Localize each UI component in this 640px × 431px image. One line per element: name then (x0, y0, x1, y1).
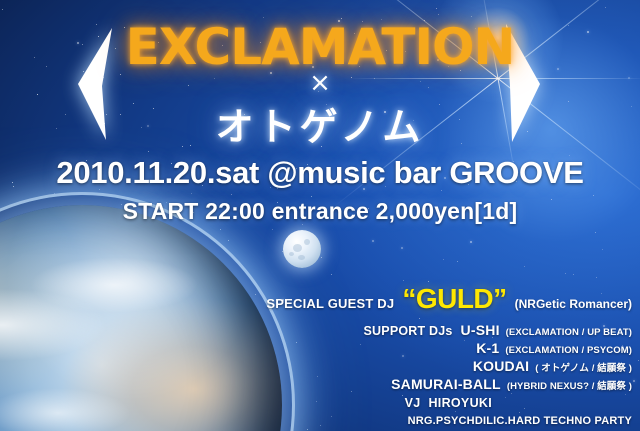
star (524, 408, 525, 409)
party-tagline: NRG.PSYCHDILIC.HARD TECHNO PARTY (408, 415, 632, 427)
star (191, 193, 192, 194)
support-dj-crew: (HYBRID NEXUS? / 結願祭 ) (507, 378, 632, 392)
star (568, 101, 569, 102)
support-dj-crew: (EXCLAMATION / UP BEAT) (506, 327, 632, 338)
event-start-entrance: START 22:00 entrance 2,000yen[1d] (123, 198, 518, 225)
star (605, 7, 606, 8)
star (104, 123, 105, 124)
support-dj-crew: ( オトゲノム / 結願祭 ) (535, 360, 632, 374)
star (470, 241, 472, 243)
vj-label: VJ (405, 396, 421, 410)
star (214, 78, 215, 79)
star (457, 261, 458, 262)
star (311, 196, 312, 197)
star (374, 78, 375, 79)
moon-crater (298, 255, 305, 260)
support-dj-name: SAMURAI-BALL (391, 376, 501, 392)
star (56, 128, 57, 129)
star (96, 24, 97, 25)
star (402, 395, 403, 396)
star (255, 294, 256, 295)
special-guest-row: SPECIAL GUEST DJ “GULD” (NRGetic Romance… (266, 283, 632, 315)
star (565, 273, 566, 274)
moon-crater (293, 244, 302, 252)
support-dj-name: KOUDAI (473, 358, 529, 374)
star (77, 42, 79, 44)
moon-crater (304, 239, 310, 245)
star (573, 274, 574, 275)
vj-name: HIROYUKI (428, 396, 492, 410)
star (124, 27, 125, 28)
star (455, 411, 456, 412)
star (420, 81, 421, 82)
support-dj-row: KOUDAI ( オトゲノム / 結願祭 ) (473, 358, 632, 374)
star (13, 186, 14, 187)
star (121, 204, 122, 205)
star (519, 412, 520, 413)
support-djs-label: SUPPORT DJs (364, 324, 453, 338)
event-date-venue: 2010.11.20.sat @music bar GROOVE (56, 155, 583, 191)
star (331, 274, 332, 275)
support-dj-name: K-1 (476, 340, 499, 356)
star (182, 146, 183, 147)
star (115, 48, 116, 49)
star (34, 57, 35, 58)
star (307, 429, 308, 430)
star (82, 44, 83, 45)
star (231, 194, 232, 195)
star (443, 259, 444, 260)
star (505, 397, 506, 398)
star (438, 14, 439, 15)
star (401, 247, 403, 249)
star (98, 36, 99, 37)
star (587, 31, 589, 33)
special-guest-label: SPECIAL GUEST DJ (266, 296, 394, 311)
star (631, 106, 632, 107)
star (316, 401, 317, 402)
special-guest-crew: (NRGetic Romancer) (515, 297, 632, 311)
star (595, 232, 596, 233)
star (272, 229, 273, 230)
support-dj-row: SUPPORT DJs U-SHI (EXCLAMATION / UP BEAT… (364, 322, 632, 338)
star (65, 114, 66, 115)
star (638, 360, 639, 361)
star (106, 114, 107, 115)
star (360, 344, 361, 345)
star (83, 71, 84, 72)
star (94, 98, 95, 99)
star (317, 376, 318, 377)
star (220, 229, 221, 230)
star (351, 391, 352, 392)
star (551, 199, 552, 200)
support-dj-crew: (EXCLAMATION / PSYCOM) (505, 345, 632, 356)
support-djs-block: SUPPORT DJs U-SHI (EXCLAMATION / UP BEAT… (364, 322, 632, 392)
flare-ray-horizontal (348, 78, 640, 79)
star (37, 94, 38, 95)
star (46, 66, 47, 67)
star (351, 77, 352, 78)
star (428, 87, 429, 88)
star (372, 240, 374, 242)
star (459, 119, 460, 120)
moon-crater (289, 252, 294, 256)
star (568, 25, 569, 26)
star (511, 393, 512, 394)
event-flyer: EXCLAMATION × オトゲノム 2010.11.20.sat @musi… (0, 0, 640, 431)
earth-planet (0, 205, 282, 431)
star (331, 416, 332, 417)
star (527, 131, 528, 132)
star (188, 85, 189, 86)
support-dj-row: K-1 (EXCLAMATION / PSYCOM) (476, 340, 632, 356)
support-dj-name: U-SHI (461, 322, 500, 338)
star (511, 99, 512, 100)
star (321, 257, 322, 258)
star (120, 74, 121, 75)
star (141, 127, 142, 128)
star (439, 104, 440, 105)
star (461, 143, 462, 144)
star (403, 280, 404, 281)
star (625, 394, 626, 395)
support-dj-row: SAMURAI-BALL (HYBRID NEXUS? / 結願祭 ) (391, 376, 632, 392)
star (12, 182, 13, 183)
star (628, 77, 630, 79)
star (103, 77, 104, 78)
light-shard-left-icon (72, 26, 124, 144)
star (633, 380, 635, 382)
star (54, 193, 55, 194)
star (133, 103, 134, 104)
star (147, 125, 149, 127)
star (512, 115, 513, 116)
logo-cross-symbol: × (309, 68, 331, 98)
star (153, 108, 154, 109)
star (596, 277, 597, 278)
star (320, 425, 321, 426)
star (190, 145, 191, 146)
logo-otogenom-title: オトゲノム (216, 96, 425, 151)
moon (283, 230, 321, 268)
vj-row: VJ HIROYUKI (405, 396, 492, 410)
star (436, 8, 437, 9)
star (524, 266, 525, 267)
star (2, 9, 3, 10)
special-guest-name: “GULD” (402, 283, 506, 315)
star (419, 318, 420, 319)
star (228, 240, 229, 241)
star (296, 342, 297, 343)
star (593, 195, 594, 196)
star (148, 151, 149, 152)
star (120, 114, 121, 115)
earth-clouds (0, 205, 282, 431)
star (602, 249, 603, 250)
star (557, 68, 559, 70)
